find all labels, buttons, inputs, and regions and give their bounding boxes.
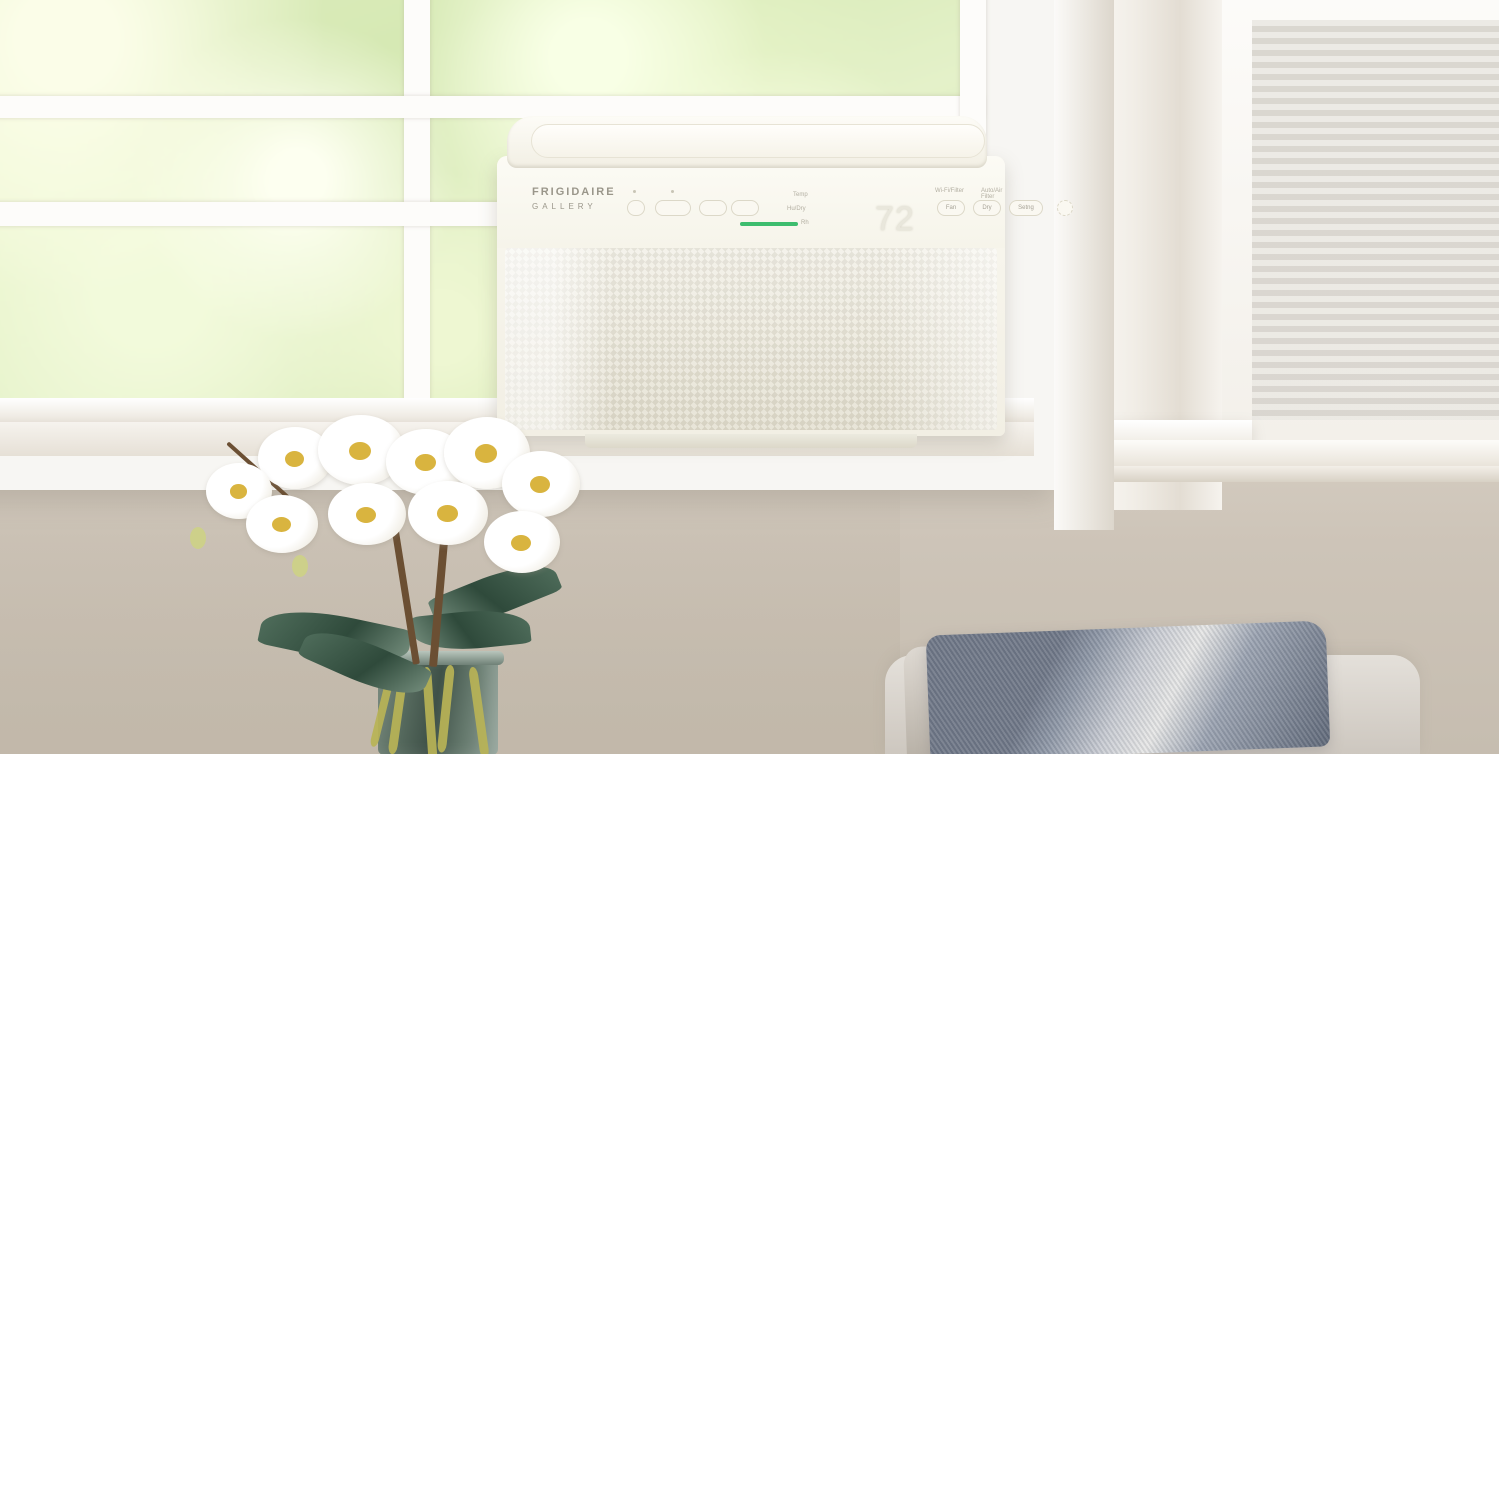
ac-controls: Temp Hu/Dry Rh 72 Wi-Fi/Filter Auto/Air … bbox=[625, 186, 975, 226]
setting-button[interactable]: Setng bbox=[1009, 200, 1043, 216]
ac-control-panel: FRIGIDAIRE GALLERY Temp Hu/Dry Rh 72 Wi-… bbox=[497, 156, 1005, 248]
label-humidity: Hu/Dry bbox=[787, 206, 806, 212]
power-button[interactable] bbox=[627, 200, 645, 216]
throw-pillow bbox=[926, 620, 1331, 754]
plant-leaf bbox=[410, 605, 531, 655]
label-temp: Temp bbox=[793, 192, 808, 198]
window-air-conditioner: FRIGIDAIRE GALLERY Temp Hu/Dry Rh 72 Wi-… bbox=[497, 116, 1010, 438]
orchid-bloom bbox=[408, 481, 488, 545]
temp-down-button[interactable] bbox=[699, 200, 727, 216]
orchid-bud bbox=[292, 555, 308, 577]
promotional-infographic: FRIGIDAIRE GALLERY Temp Hu/Dry Rh 72 Wi-… bbox=[0, 0, 1499, 1500]
temp-up-button[interactable] bbox=[731, 200, 759, 216]
ac-top-vent bbox=[531, 124, 985, 158]
home-icon bbox=[671, 190, 674, 193]
dry-button[interactable]: Dry bbox=[973, 200, 1001, 216]
ac-grille-highlight bbox=[505, 248, 997, 430]
product-lifestyle-photo: FRIGIDAIRE GALLERY Temp Hu/Dry Rh 72 Wi-… bbox=[0, 0, 1499, 754]
orchid-plant bbox=[150, 415, 570, 754]
window-blinds bbox=[1252, 20, 1499, 420]
fan-button[interactable]: Fan bbox=[937, 200, 965, 216]
ac-brand-name: FRIGIDAIRE bbox=[532, 184, 616, 201]
orchid-bloom bbox=[484, 511, 560, 573]
ac-brand-logo: FRIGIDAIRE GALLERY bbox=[532, 184, 616, 213]
misc-button[interactable] bbox=[1057, 200, 1073, 216]
ac-temperature-display: 72 bbox=[875, 200, 915, 239]
ac-status-indicator bbox=[740, 222, 798, 226]
wall-molding-upper bbox=[1062, 440, 1499, 468]
label-rh: Rh bbox=[801, 220, 809, 226]
mode-button[interactable] bbox=[655, 200, 691, 216]
orchid-bloom bbox=[246, 495, 318, 553]
ac-brand-sub: GALLERY bbox=[532, 201, 616, 213]
label-wifi-filter: Wi-Fi/Filter bbox=[935, 188, 964, 194]
wifi-icon bbox=[633, 190, 636, 193]
wall-molding-lower bbox=[1062, 466, 1499, 482]
orchid-bud bbox=[190, 527, 206, 549]
window-casing-right bbox=[1054, 0, 1114, 530]
ac-base bbox=[585, 434, 917, 448]
ac-top-cap bbox=[507, 116, 987, 168]
orchid-bloom bbox=[328, 483, 406, 545]
label-auto-air: Auto/Air Filter bbox=[981, 188, 1002, 200]
noise-level-panel: Benefit from quiet operation at 42 dBA 4… bbox=[0, 754, 1499, 1500]
orchid-bloom bbox=[502, 451, 580, 517]
window-mullion-horizontal-top bbox=[0, 96, 984, 118]
